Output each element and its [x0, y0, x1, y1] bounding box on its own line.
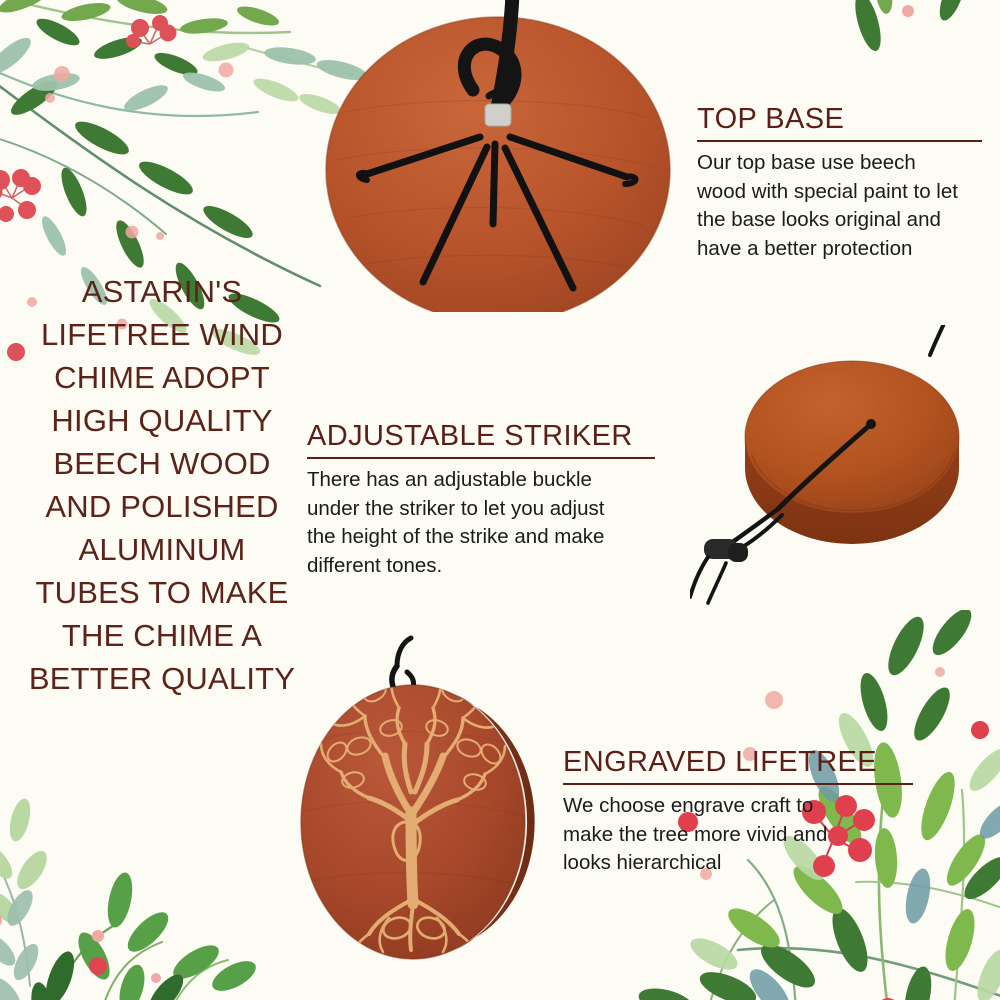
- headline-line: THE CHIME A: [12, 614, 312, 657]
- callout-title: TOP BASE: [697, 103, 982, 136]
- headline-line: LIFETREE WIND: [12, 313, 312, 356]
- callout-title: ADJUSTABLE STRIKER: [307, 420, 655, 453]
- callout-body-line: the base looks original and: [697, 206, 982, 235]
- infographic-canvas: ASTARIN'S LIFETREE WIND CHIME ADOPT HIGH…: [0, 0, 1000, 1000]
- callout-body-line: make the tree more vivid and: [563, 821, 913, 850]
- callout-underline: [697, 140, 982, 142]
- headline-line: TUBES TO MAKE: [12, 571, 312, 614]
- headline-line: AND POLISHED: [12, 485, 312, 528]
- headline-line: BEECH WOOD: [12, 442, 312, 485]
- headline-line: HIGH QUALITY: [12, 399, 312, 442]
- lifetree-photo: [285, 632, 570, 967]
- callout-body-line: There has an adjustable buckle: [307, 466, 655, 495]
- callout-underline: [307, 457, 655, 459]
- callout-body-line: different tones.: [307, 552, 655, 581]
- headline-line: ALUMINUM: [12, 528, 312, 571]
- callout-body-line: We choose engrave craft to: [563, 792, 913, 821]
- callout-body: There has an adjustable buckle under the…: [307, 466, 655, 580]
- callout-title: ENGRAVED LIFETREE: [563, 746, 913, 779]
- striker-photo: [690, 325, 1000, 615]
- bottom-left-botanical-icon: [0, 780, 320, 1000]
- callout-body: We choose engrave craft to make the tree…: [563, 792, 913, 878]
- callout-engraved-lifetree: ENGRAVED LIFETREE We choose engrave craf…: [563, 746, 913, 878]
- callout-body-line: the height of the strike and make: [307, 523, 655, 552]
- callout-body-line: wood with special paint to let: [697, 178, 982, 207]
- callout-body: Our top base use beech wood with special…: [697, 149, 982, 263]
- headline-line: ASTARIN'S: [12, 270, 312, 313]
- callout-body-line: Our top base use beech: [697, 149, 982, 178]
- top-base-photo: [305, 0, 695, 312]
- headline-line: BETTER QUALITY: [12, 657, 312, 700]
- callout-body-line: looks hierarchical: [563, 849, 913, 878]
- callout-adjustable-striker: ADJUSTABLE STRIKER There has an adjustab…: [307, 420, 655, 580]
- callout-body-line: have a better protection: [697, 235, 982, 264]
- headline-block: ASTARIN'S LIFETREE WIND CHIME ADOPT HIGH…: [12, 270, 312, 700]
- callout-top-base: TOP BASE Our top base use beech wood wit…: [697, 103, 982, 263]
- callout-body-line: under the striker to let you adjust: [307, 495, 655, 524]
- headline-line: CHIME ADOPT: [12, 356, 312, 399]
- callout-underline: [563, 783, 913, 785]
